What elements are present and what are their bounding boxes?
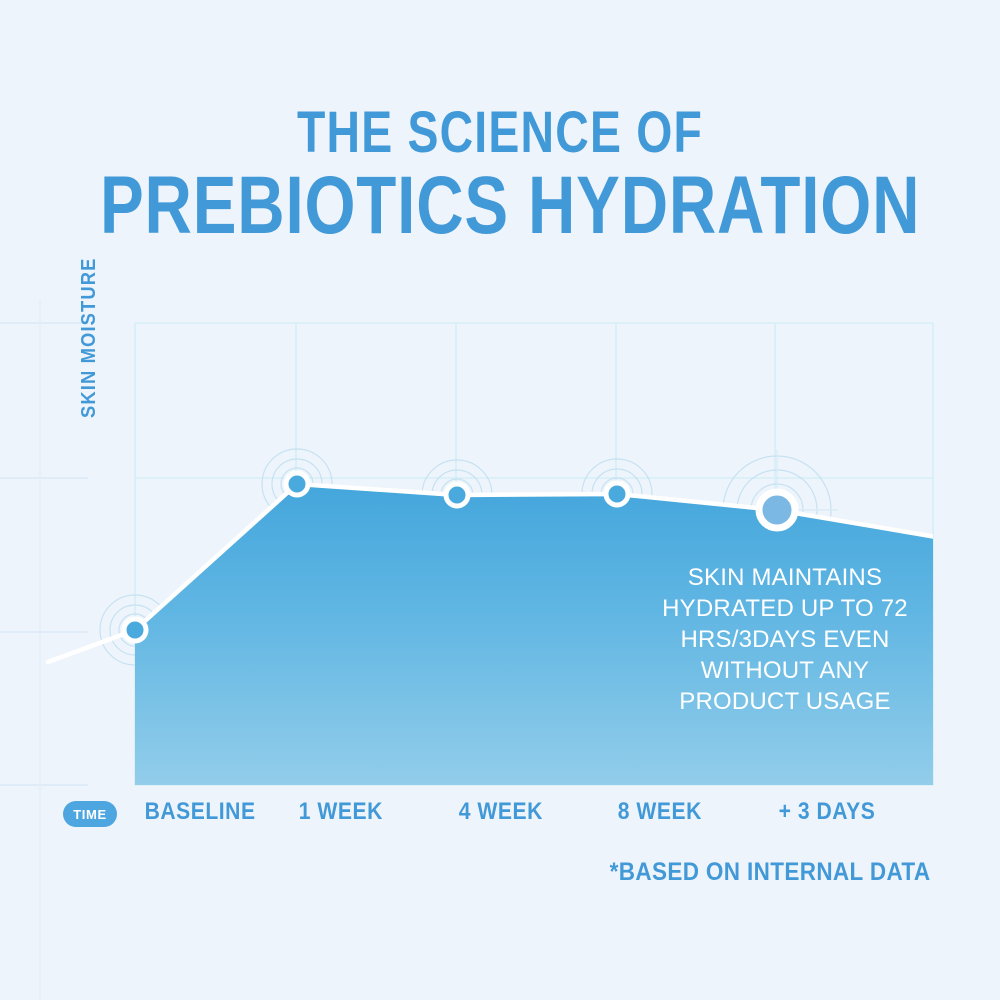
- x-tick-plus-3-days: + 3 DAYS: [779, 798, 876, 826]
- data-point-1-week[interactable]: [286, 473, 308, 495]
- annotation-line-4: WITHOUT ANY: [640, 655, 930, 686]
- x-tick-baseline: BASELINE: [145, 798, 256, 826]
- x-axis: TIME BASELINE 1 WEEK 4 WEEK 8 WEEK + 3 D…: [0, 798, 1000, 834]
- annotation-line-3: HRS/3DAYS EVEN: [640, 624, 930, 655]
- data-point-4-week[interactable]: [446, 484, 468, 506]
- footnote-source: *BASED ON INTERNAL DATA: [609, 858, 930, 887]
- y-axis-label: SKIN MOISTURE: [78, 225, 101, 418]
- data-point-baseline[interactable]: [124, 619, 146, 641]
- annotation-line-5: PRODUCT USAGE: [640, 686, 930, 717]
- x-tick-8-week: 8 WEEK: [618, 798, 702, 826]
- trend-line-tail: [48, 630, 135, 662]
- infographic-canvas: THE SCIENCE OF PREBIOTICS HYDRATION: [0, 0, 1000, 1000]
- annotation-line-1: SKIN MAINTAINS: [640, 562, 930, 593]
- skin-moisture-area-chart: [0, 0, 1000, 1000]
- data-point-8-week[interactable]: [606, 483, 628, 505]
- data-point-plus-3-days[interactable]: [759, 492, 795, 528]
- annotation-callout: SKIN MAINTAINS HYDRATED UP TO 72 HRS/3DA…: [640, 562, 930, 717]
- x-tick-4-week: 4 WEEK: [459, 798, 543, 826]
- x-tick-1-week: 1 WEEK: [299, 798, 383, 826]
- time-badge: TIME: [63, 801, 117, 827]
- annotation-line-2: HYDRATED UP TO 72: [640, 593, 930, 624]
